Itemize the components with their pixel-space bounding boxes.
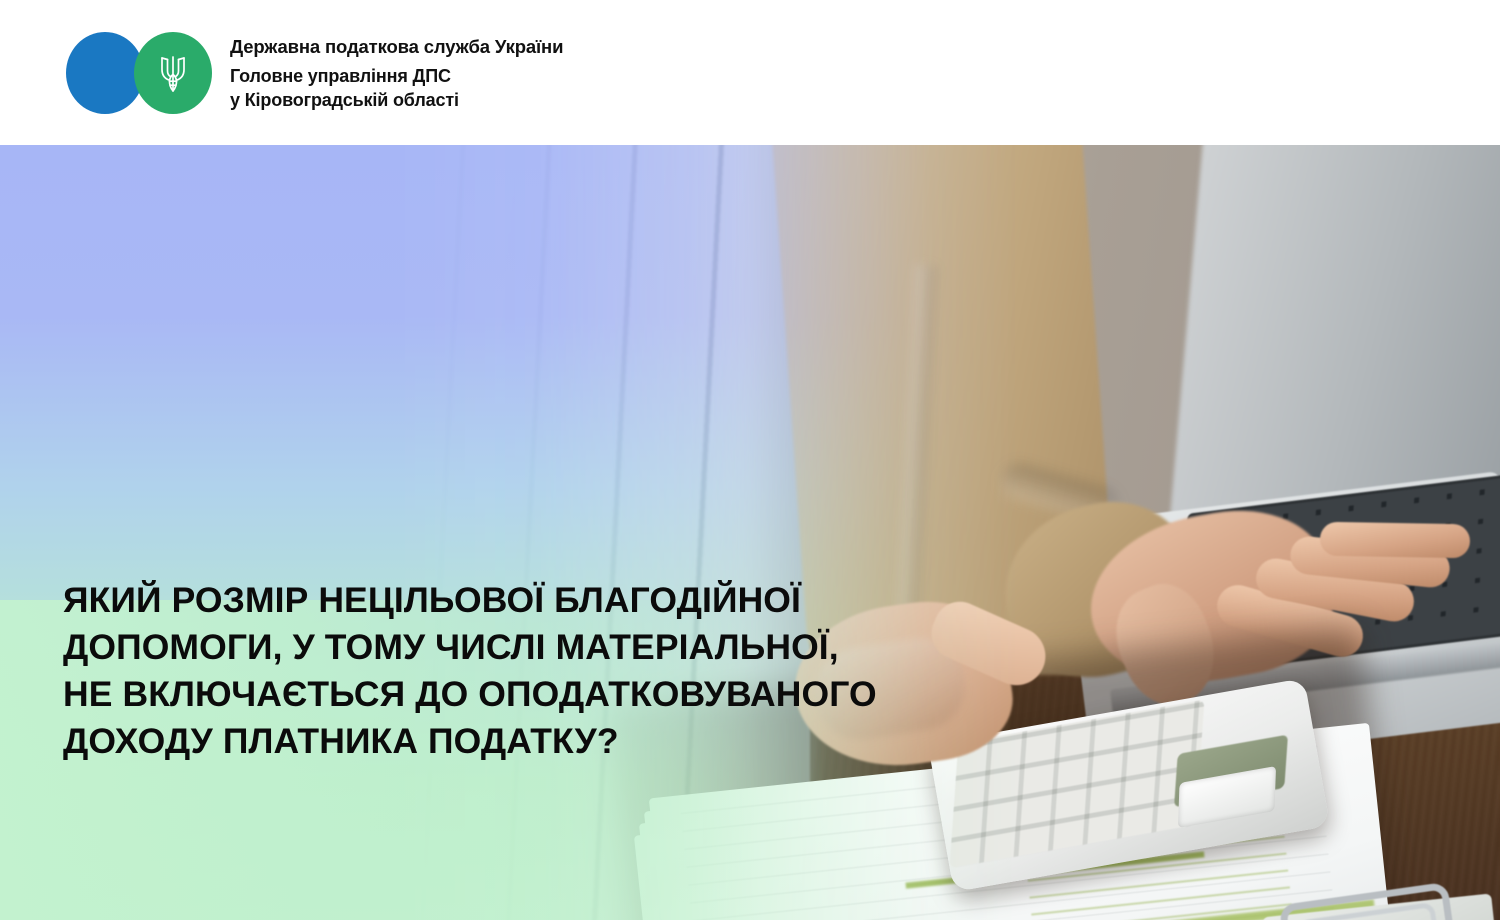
logo-green-circle-icon xyxy=(134,32,212,114)
organization-title: Державна податкова служба України Головн… xyxy=(230,34,563,112)
page-title: ЯКИЙ РОЗМІР НЕЦІЛЬОВОЇ БЛАГОДІЙНОЇ ДОПОМ… xyxy=(63,577,963,765)
headline-line-2: ДОПОМОГИ, У ТОМУ ЧИСЛІ МАТЕРІАЛЬНОЇ, xyxy=(63,624,963,671)
org-name-line-1: Державна податкова служба України xyxy=(230,34,563,59)
headline-line-3: НЕ ВКЛЮЧАЄТЬСЯ ДО ОПОДАТКОВУВАНОГО xyxy=(63,671,963,718)
trident-icon xyxy=(156,51,190,95)
photo-stage: ЯКИЙ РОЗМІР НЕЦІЛЬОВОЇ БЛАГОДІЙНОЇ ДОПОМ… xyxy=(0,145,1500,920)
org-name-line-2: Головне управління ДПС xyxy=(230,64,563,88)
headline-line-4: ДОХОДУ ПЛАТНИКА ПОДАТКУ? xyxy=(63,718,963,765)
poster-root: ЯКИЙ РОЗМІР НЕЦІЛЬОВОЇ БЛАГОДІЙНОЇ ДОПОМ… xyxy=(0,0,1500,920)
dps-logo[interactable] xyxy=(66,32,202,114)
headline-line-1: ЯКИЙ РОЗМІР НЕЦІЛЬОВОЇ БЛАГОДІЙНОЇ xyxy=(63,577,963,624)
right-hand-finger xyxy=(1320,522,1471,559)
logo-blue-circle-icon xyxy=(66,32,144,114)
site-header: Державна податкова служба України Головн… xyxy=(0,0,1500,145)
background-photo xyxy=(0,145,1500,920)
org-name-line-3: у Кіровоградській області xyxy=(230,88,563,112)
